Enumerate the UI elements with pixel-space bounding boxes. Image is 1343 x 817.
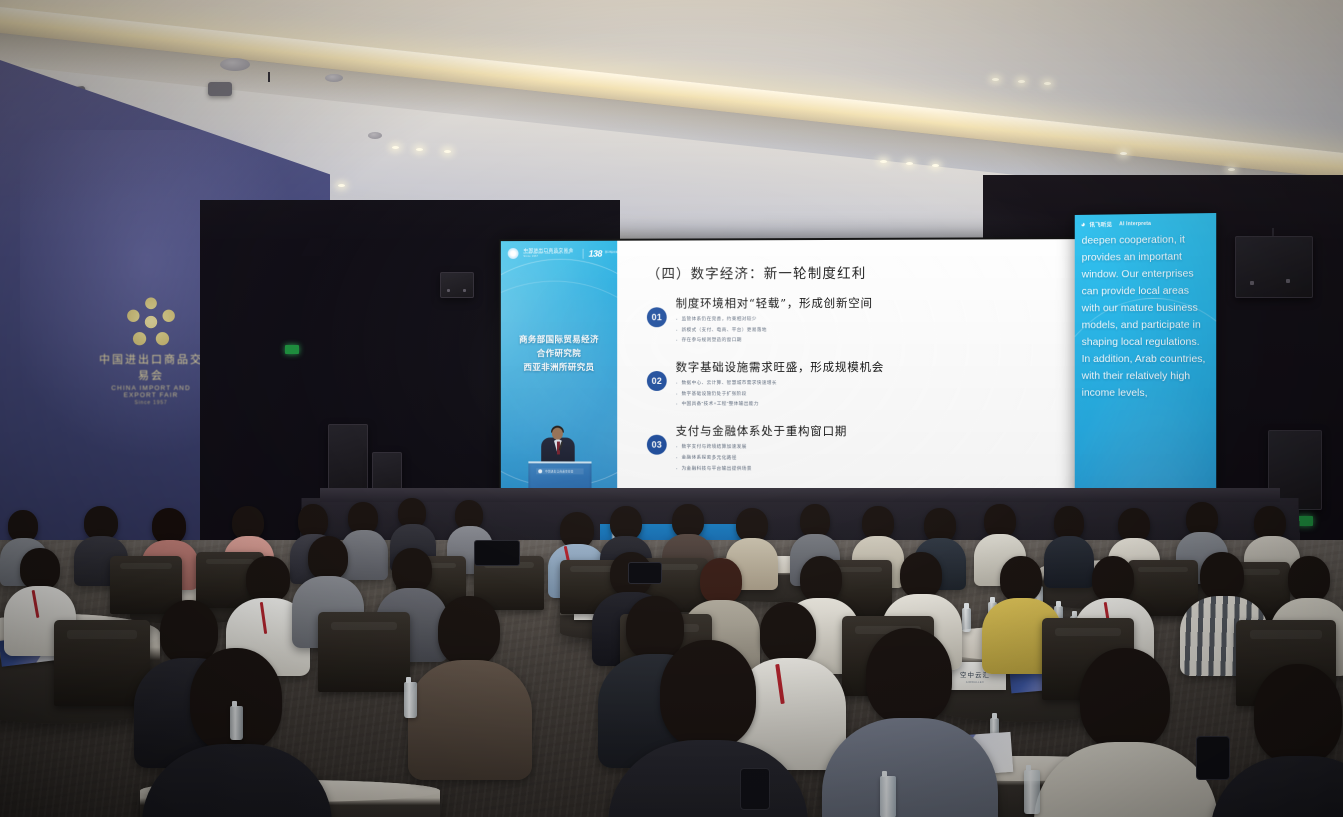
wall-speaker	[1235, 236, 1313, 298]
slide-speaker-info: 商务部国际贸易经济 合作研究院 西亚非洲所研究员	[501, 332, 617, 374]
podium-logo-icon	[538, 469, 542, 473]
venue-logo-since: Since 1957	[96, 400, 206, 406]
slide-section: 01 制度环境相对“轻载”，形成创新空间 监管体系仍在完善，约束相对较少 新模式…	[647, 294, 1138, 348]
speaker-line-1: 商务部国际贸易经济	[507, 332, 612, 346]
anniversary-badge: 138 第138届中国进出口商品交易会	[583, 248, 618, 258]
wall-speaker	[440, 272, 474, 298]
slide-title: （四）数字经济：新一轮制度红利	[647, 261, 1138, 282]
canton-fair-mark-icon	[508, 248, 519, 259]
venue-wall-logo: 中国进出口商品交易会 CHINA IMPORT AND EXPORT FAIR …	[96, 295, 206, 406]
ai-brand-en: AI Interpreta	[1119, 221, 1151, 227]
chair	[318, 612, 410, 692]
section-bullet-list: 数字支付与跨境结算加速发展 金融体系探索多元化路径 为金融科技与平台输出提供场景	[676, 444, 1139, 473]
bullet-item: 为金融科技与平台输出提供场景	[676, 465, 1139, 472]
slide-logo-since: Since 1957	[523, 256, 573, 259]
bullet-item: 新模式（支付、电商、平台）更易落地	[676, 326, 1139, 333]
podium-label: 中国进出口商品交易会	[545, 469, 574, 473]
section-number-badge: 01	[647, 307, 667, 327]
smartphone	[740, 768, 770, 810]
venue-logo-en: CHINA IMPORT AND EXPORT FAIR	[96, 385, 206, 399]
bullet-item: 数字基础设施仍处于扩张阶段	[676, 391, 1139, 397]
ai-interpreter-screen: ◕ 讯飞听见 AI Interpreta deepen cooperation,…	[1075, 213, 1216, 503]
anniversary-number: 138	[588, 248, 601, 258]
section-heading: 数字基础设施需求旺盛，形成规模机会	[676, 359, 1139, 375]
water-bottle	[880, 776, 896, 817]
bullet-item: 存在参与规则塑造的窗口期	[676, 337, 1139, 344]
smartphone	[628, 562, 662, 584]
iflytek-logo-icon: ◕	[1081, 221, 1086, 229]
venue-logo-cn: 中国进出口商品交易会	[96, 351, 206, 383]
exit-sign-icon	[285, 345, 299, 354]
smartphone	[474, 540, 520, 566]
tent-card-sub: AIRWALLEX	[966, 681, 984, 684]
slide-sidebar: 中国进出口商品交易会 CHINA IMPORT AND EXPORT FAIR …	[501, 241, 617, 512]
bullet-item: 中国具备“技术+工程”整体输出能力	[676, 401, 1139, 408]
slide-logo-row: 中国进出口商品交易会 CHINA IMPORT AND EXPORT FAIR …	[501, 241, 617, 259]
bullet-item: 数字支付与跨境结算加速发展	[676, 444, 1139, 451]
section-heading: 支付与金融体系处于重构窗口期	[676, 423, 1139, 440]
section-number-badge: 03	[647, 435, 667, 455]
kapok-flower-icon	[125, 295, 177, 347]
presenter-head	[552, 428, 563, 440]
bullet-item: 监管体系仍在完善，约束相对较少	[676, 316, 1139, 323]
conference-hall-photo: 中国进出口商品交易会 CHINA IMPORT AND EXPORT FAIR …	[0, 0, 1343, 817]
water-bottle	[230, 706, 243, 740]
speaker-line-2: 合作研究院	[507, 346, 612, 360]
floor-speaker	[328, 424, 368, 496]
bullet-item: 数据中心、云计算、智慧城市需求快速增长	[676, 380, 1139, 386]
section-bullet-list: 数据中心、云计算、智慧城市需求快速增长 数字基础设施仍处于扩张阶段 中国具备“技…	[676, 380, 1139, 408]
bullet-item: 金融体系探索多元化路径	[676, 455, 1139, 462]
water-bottle	[962, 608, 971, 632]
slide-section: 02 数字基础设施需求旺盛，形成规模机会 数据中心、云计算、智慧城市需求快速增长…	[647, 359, 1138, 412]
smartphone	[1196, 736, 1230, 780]
water-bottle	[1024, 770, 1040, 814]
speaker-line-3: 西亚非洲所研究员	[507, 360, 612, 374]
ai-transcript-text: deepen cooperation, it provides an impor…	[1075, 227, 1216, 402]
section-bullet-list: 监管体系仍在完善，约束相对较少 新模式（支付、电商、平台）更易落地 存在参与规则…	[676, 316, 1139, 344]
slide: 中国进出口商品交易会 CHINA IMPORT AND EXPORT FAIR …	[501, 239, 1157, 513]
presentation-screen: 中国进出口商品交易会 CHINA IMPORT AND EXPORT FAIR …	[499, 237, 1159, 515]
slide-section: 03 支付与金融体系处于重构窗口期 数字支付与跨境结算加速发展 金融体系探索多元…	[647, 423, 1138, 477]
water-bottle	[404, 682, 417, 718]
ceiling-speaker	[208, 82, 232, 96]
anniversary-text: 第138届中国进出口商品交易会	[605, 252, 617, 255]
section-number-badge: 02	[647, 371, 667, 391]
section-heading: 制度环境相对“轻载”，形成创新空间	[676, 294, 1139, 311]
